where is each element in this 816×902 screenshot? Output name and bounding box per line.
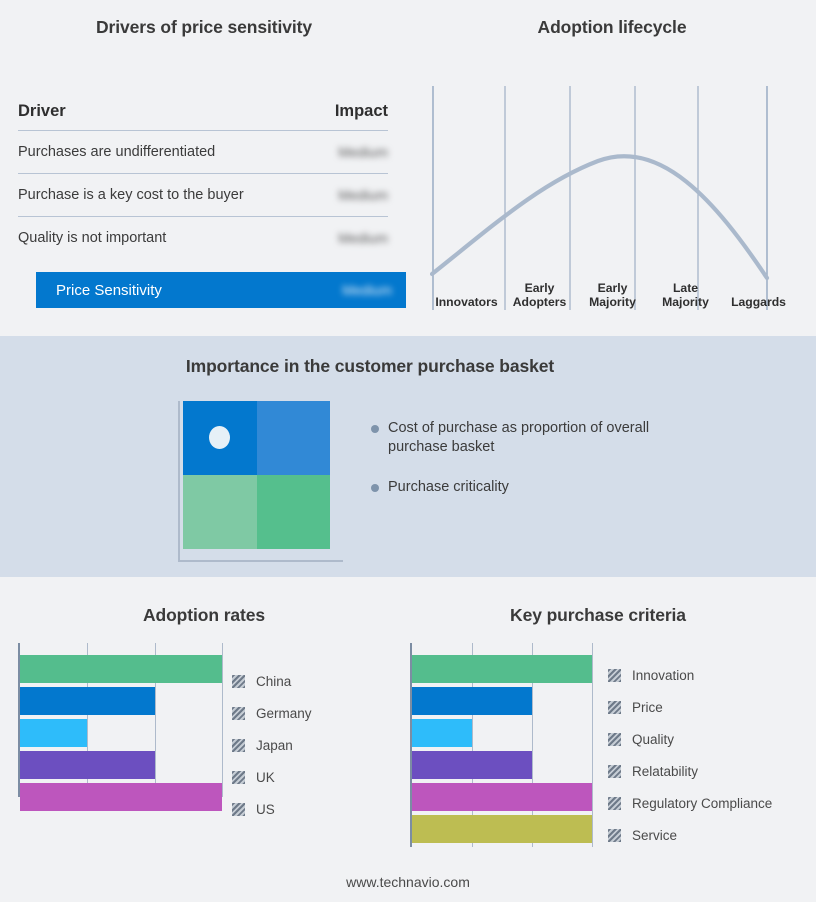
bar	[412, 751, 532, 779]
table-header-row: Driver Impact	[18, 92, 388, 131]
stage-line-2: Majority	[576, 295, 649, 309]
bar	[412, 687, 532, 715]
legend-label: Regulatory Compliance	[632, 796, 772, 811]
table-row: Purchases are undifferentiated Medium	[18, 131, 388, 174]
bar	[412, 783, 592, 811]
price-sensitivity-impact: Medium	[342, 282, 392, 298]
lifecycle-stage-laggards: Laggards	[722, 272, 795, 312]
key-purchase-criteria-plot	[410, 643, 592, 847]
stage-line-1: Late	[649, 281, 722, 295]
legend-label: Relatability	[632, 764, 698, 779]
lifecycle-stage-early-adopters: Early Adopters	[503, 272, 576, 312]
stage-line-1: Early	[503, 281, 576, 295]
hatched-swatch-icon	[608, 733, 621, 746]
legend-label: Germany	[256, 706, 312, 721]
legend-item: Price	[608, 691, 808, 723]
legend-item: Purchase criticality	[371, 478, 671, 497]
gridline	[592, 643, 593, 847]
legend-label: Innovation	[632, 668, 694, 683]
hatched-swatch-icon	[232, 739, 245, 752]
stage-line-2: Innovators	[430, 295, 503, 309]
purchase-basket-matrix	[183, 401, 330, 549]
hatched-swatch-icon	[608, 765, 621, 778]
stage-line-2: Majority	[649, 295, 722, 309]
table-row: Purchase is a key cost to the buyer Medi…	[18, 174, 388, 217]
bar	[412, 719, 472, 747]
stage-line-2: Laggards	[722, 295, 795, 309]
bar	[20, 719, 87, 747]
hatched-swatch-icon	[232, 803, 245, 816]
lifecycle-stage-innovators: Innovators	[430, 272, 503, 312]
adoption-rates-legend: ChinaGermanyJapanUKUS	[232, 665, 392, 825]
bar	[20, 655, 222, 683]
legend-item: Regulatory Compliance	[608, 787, 808, 819]
drivers-table: Driver Impact Purchases are undifferenti…	[18, 92, 388, 259]
legend-item: Service	[608, 819, 808, 851]
adoption-rates-panel: Adoption rates ChinaGermanyJapanUKUS	[0, 577, 408, 902]
column-header-impact: Impact	[335, 102, 388, 121]
legend-item: UK	[232, 761, 392, 793]
bar	[20, 751, 155, 779]
adoption-lifecycle-title: Adoption lifecycle	[408, 17, 816, 38]
purchase-basket-legend: Cost of purchase as proportion of overal…	[371, 419, 671, 518]
legend-item: China	[232, 665, 392, 697]
bar	[412, 655, 592, 683]
legend-label: Service	[632, 828, 677, 843]
key-purchase-criteria-title: Key purchase criteria	[408, 605, 788, 626]
bullet-dot-icon	[371, 425, 379, 433]
hatched-swatch-icon	[232, 771, 245, 784]
impact-value: Medium	[338, 187, 388, 203]
legend-label: Cost of purchase as proportion of overal…	[388, 419, 653, 457]
drivers-panel: Drivers of price sensitivity Driver Impa…	[0, 0, 408, 336]
bar	[412, 815, 592, 843]
legend-item: Relatability	[608, 755, 808, 787]
price-sensitivity-summary-row: Price Sensitivity Medium	[36, 272, 406, 308]
key-purchase-criteria-panel: Key purchase criteria InnovationPriceQua…	[408, 577, 816, 902]
adoption-rates-title: Adoption rates	[0, 605, 408, 626]
hatched-swatch-icon	[608, 669, 621, 682]
key-purchase-criteria-legend: InnovationPriceQualityRelatabilityRegula…	[608, 659, 808, 851]
legend-label: Purchase criticality	[388, 478, 509, 497]
hatched-swatch-icon	[232, 707, 245, 720]
gridline	[222, 643, 223, 797]
legend-item: Innovation	[608, 659, 808, 691]
matrix-quadrant-top-right	[257, 401, 331, 475]
bar	[20, 687, 155, 715]
legend-label: US	[256, 802, 275, 817]
drivers-panel-title: Drivers of price sensitivity	[0, 17, 408, 38]
adoption-lifecycle-panel: Adoption lifecycle Innovators Early Adop…	[408, 0, 816, 336]
impact-value: Medium	[338, 230, 388, 246]
legend-label: China	[256, 674, 291, 689]
hatched-swatch-icon	[608, 797, 621, 810]
legend-label: UK	[256, 770, 275, 785]
hatched-swatch-icon	[232, 675, 245, 688]
legend-item: Cost of purchase as proportion of overal…	[371, 419, 671, 457]
lifecycle-stage-late-majority: Late Majority	[649, 272, 722, 312]
legend-label: Price	[632, 700, 663, 715]
matrix-horizontal-axis	[178, 560, 343, 562]
legend-item: Japan	[232, 729, 392, 761]
driver-label: Purchases are undifferentiated	[18, 144, 215, 160]
purchase-basket-title: Importance in the customer purchase bask…	[0, 356, 740, 377]
footer-watermark: www.technavio.com	[0, 874, 816, 890]
legend-item: Quality	[608, 723, 808, 755]
lifecycle-stage-labels: Innovators Early Adopters Early Majority…	[430, 272, 795, 312]
legend-item: US	[232, 793, 392, 825]
stage-line-2: Adopters	[503, 295, 576, 309]
hatched-swatch-icon	[608, 701, 621, 714]
legend-label: Quality	[632, 732, 674, 747]
matrix-quadrant-bottom-left	[183, 475, 257, 549]
bullet-dot-icon	[371, 484, 379, 492]
table-row: Quality is not important Medium	[18, 217, 388, 259]
price-sensitivity-label: Price Sensitivity	[56, 282, 162, 299]
hatched-swatch-icon	[608, 829, 621, 842]
position-marker-icon	[209, 426, 230, 449]
impact-value: Medium	[338, 144, 388, 160]
bar	[20, 783, 222, 811]
matrix-vertical-axis	[178, 401, 180, 561]
stage-line-1: Early	[576, 281, 649, 295]
lifecycle-stage-early-majority: Early Majority	[576, 272, 649, 312]
adoption-rates-plot	[18, 643, 222, 797]
driver-label: Quality is not important	[18, 230, 166, 246]
legend-label: Japan	[256, 738, 293, 753]
matrix-quadrant-bottom-right	[257, 475, 331, 549]
legend-item: Germany	[232, 697, 392, 729]
adoption-curve	[432, 156, 767, 278]
column-header-driver: Driver	[18, 102, 66, 121]
driver-label: Purchase is a key cost to the buyer	[18, 187, 244, 203]
matrix-quadrant-top-left	[183, 401, 257, 475]
